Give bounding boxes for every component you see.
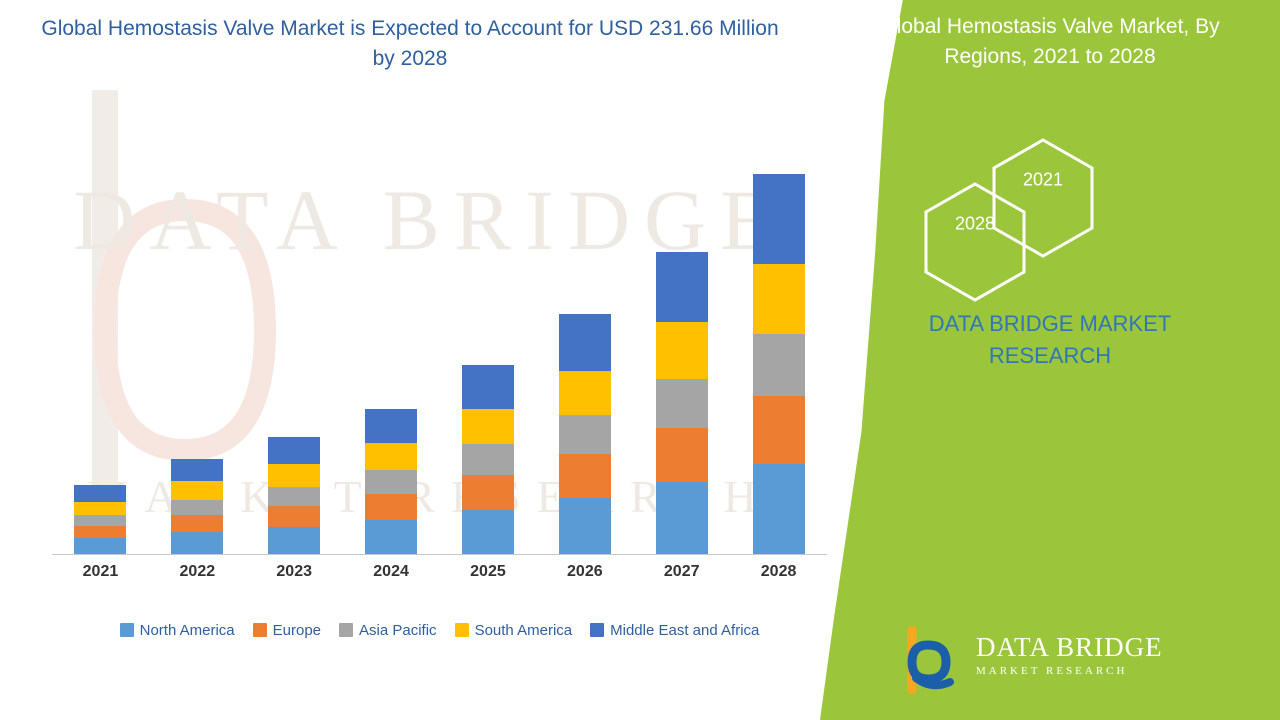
bar-segment [74,485,126,501]
logo-mark-icon [900,626,966,694]
x-axis-tick-label: 2025 [440,563,537,589]
bar-segment [365,470,417,493]
legend-swatch [455,623,469,637]
stacked-bar [268,437,320,554]
bar-segment [268,527,320,554]
bar-segment [753,464,805,554]
bar-segment [74,515,126,526]
bar-segment [753,264,805,335]
bar-segment [753,334,805,395]
bar-segment [559,371,611,415]
stacked-bar [656,252,708,554]
bar-segment [171,500,223,515]
x-axis-tick-label: 2028 [730,563,827,589]
legend-item[interactable]: Asia Pacific [339,622,437,639]
bar-segment [365,443,417,470]
hexagon-2021: 2021 [988,136,1066,224]
chart-legend: North AmericaEuropeAsia PacificSouth Ame… [52,618,827,642]
bar-segment [365,520,417,554]
bar-segment [656,482,708,554]
bar-segment [559,454,611,497]
stacked-bar [559,314,611,554]
legend-swatch [590,623,604,637]
hexagon-outline-icon [988,136,1098,260]
chart-title: Global Hemostasis Valve Market is Expect… [40,14,780,74]
brand-line-2: RESEARCH [840,340,1260,372]
bar-group [52,95,149,554]
bar-segment [268,437,320,464]
bar-segment [462,365,514,409]
legend-label: Middle East and Africa [610,622,759,639]
x-axis-tick-label: 2026 [536,563,633,589]
legend-swatch [339,623,353,637]
bar-segment [171,481,223,499]
bar-group [246,95,343,554]
x-axis-tick-label: 2021 [52,563,149,589]
bar-segment [462,444,514,475]
legend-swatch [120,623,134,637]
slide-root: DATA BRIDGE MARKET RESEARCH Global Hemos… [0,0,1280,720]
data-bridge-logo: DATA BRIDGE MARKET RESEARCH [880,624,1240,698]
bar-segment [365,494,417,520]
bar-segment [559,415,611,454]
x-axis-tick-label: 2024 [343,563,440,589]
legend-item[interactable]: Europe [253,622,321,639]
logo-text: DATA BRIDGE MARKET RESEARCH [976,632,1163,677]
bar-group [149,95,246,554]
chart-plot-area [52,95,827,555]
stacked-bar [462,365,514,554]
hexagon-2021-label: 2021 [988,170,1098,191]
bar-segment [656,252,708,323]
bar-segment [753,174,805,264]
legend-label: South America [475,622,573,639]
bar-segment [74,502,126,515]
legend-item[interactable]: South America [455,622,573,639]
bar-group [730,95,827,554]
bar-segment [171,532,223,554]
bar-group [440,95,537,554]
logo-sub-text: MARKET RESEARCH [976,665,1163,677]
bar-segment [656,322,708,378]
bar-segment [74,526,126,538]
bar-group [536,95,633,554]
right-panel: Global Hemostasis Valve Market, By Regio… [820,0,1280,720]
stacked-bar [365,409,417,554]
bar-group [343,95,440,554]
stacked-bar [171,459,223,554]
legend-label: Europe [273,622,321,639]
bar-segment [268,464,320,486]
x-axis-tick-label: 2023 [246,563,343,589]
bar-segment [171,515,223,532]
bar-segment [559,314,611,370]
bar-groups [52,95,827,554]
bar-segment [365,409,417,443]
bar-segment [268,487,320,506]
bar-segment [462,409,514,444]
bar-segment [753,396,805,465]
x-axis-tick-label: 2022 [149,563,246,589]
x-axis-labels: 20212022202320242025202620272028 [52,563,827,589]
bar-group [633,95,730,554]
legend-label: North America [140,622,235,639]
hexagon-group: 2028 2021 [920,148,1240,288]
hexagon-2028: 2028 [920,180,998,268]
logo-main-text: DATA BRIDGE [976,632,1163,663]
bar-segment [656,379,708,428]
bar-segment [268,506,320,527]
bar-segment [559,498,611,554]
legend-item[interactable]: Middle East and Africa [590,622,759,639]
bar-segment [656,428,708,482]
x-axis-tick-label: 2027 [633,563,730,589]
legend-swatch [253,623,267,637]
stacked-bar [753,174,805,554]
bar-segment [462,475,514,509]
brand-line-1: DATA BRIDGE MARKET [840,308,1260,340]
bar-segment [74,538,126,554]
bar-segment [462,510,514,554]
legend-item[interactable]: North America [120,622,235,639]
panel-title: Global Hemostasis Valve Market, By Regio… [850,12,1250,72]
stacked-bar [74,485,126,554]
legend-label: Asia Pacific [359,622,437,639]
brand-name: DATA BRIDGE MARKET RESEARCH [840,308,1260,372]
bar-segment [171,459,223,481]
x-axis-line [52,554,827,555]
